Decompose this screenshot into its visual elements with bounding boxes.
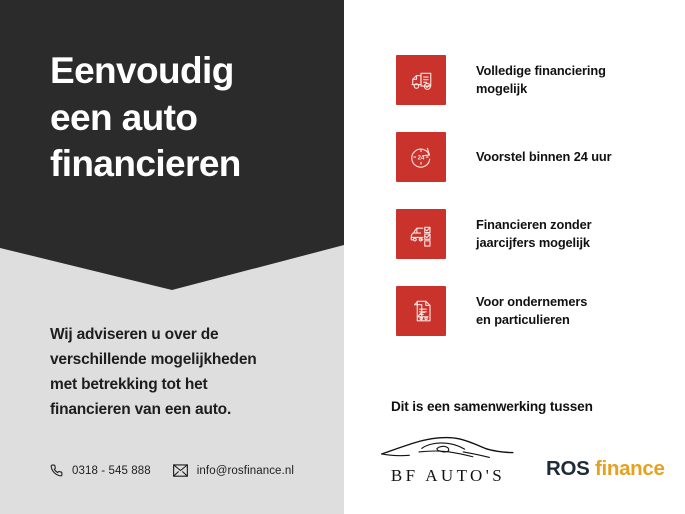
body-copy: Wij adviseren u over de verschillende mo… bbox=[50, 322, 320, 422]
feature-1-line-2: mogelijk bbox=[476, 80, 666, 98]
svg-text:24: 24 bbox=[418, 155, 425, 162]
promo-poster: Eenvoudig een auto financieren Wij advis… bbox=[0, 0, 685, 514]
feature-label-2: Voorstel binnen 24 uur bbox=[476, 148, 666, 166]
contact-email[interactable]: info@rosfinance.nl bbox=[173, 464, 294, 477]
headline-line-2: een auto bbox=[50, 95, 330, 142]
finance-wordmark: finance bbox=[595, 457, 665, 480]
delivery-truck-document-icon bbox=[396, 55, 446, 105]
body-copy-line-1: Wij adviseren u over de bbox=[50, 322, 320, 347]
contact-row: 0318 - 545 888 info@rosfinance.nl bbox=[50, 464, 294, 477]
feature-3-line-2: jaarcijfers mogelijk bbox=[476, 234, 666, 252]
envelope-icon bbox=[173, 464, 188, 477]
car-silhouette-icon bbox=[379, 447, 517, 464]
body-copy-line-3: met betrekking tot het bbox=[50, 372, 320, 397]
feature-4-line-1: Voor ondernemers bbox=[476, 293, 666, 311]
contact-phone[interactable]: 0318 - 545 888 bbox=[50, 464, 151, 477]
email-address: info@rosfinance.nl bbox=[197, 465, 294, 477]
page-title: Eenvoudig een auto financieren bbox=[50, 48, 330, 188]
car-checklist-icon bbox=[396, 209, 446, 259]
partners-title: Dit is een samenwerking tussen bbox=[391, 399, 593, 414]
feature-item-4: Voor ondernemers en particulieren bbox=[396, 286, 666, 336]
feature-label-3: Financieren zonder jaarcijfers mogelijk bbox=[476, 216, 666, 253]
bf-autos-wordmark: BF AUTO'S bbox=[374, 466, 522, 486]
body-copy-line-2: verschillende mogelijkheden bbox=[50, 347, 320, 372]
left-panel: Eenvoudig een auto financieren Wij advis… bbox=[0, 0, 344, 514]
headline-line-3: financieren bbox=[50, 141, 330, 188]
partner-logos: BF AUTO'S ROS finance bbox=[374, 430, 674, 490]
logo-ros-finance[interactable]: ROS finance bbox=[546, 457, 665, 481]
feature-item-3: Financieren zonder jaarcijfers mogelijk bbox=[396, 209, 666, 259]
phone-number: 0318 - 545 888 bbox=[72, 465, 151, 477]
logo-bf-autos[interactable]: BF AUTO'S bbox=[374, 430, 522, 486]
body-copy-line-4: financieren van een auto. bbox=[50, 397, 320, 422]
feature-1-line-1: Volledige financiering bbox=[476, 62, 666, 80]
ros-wordmark: ROS bbox=[546, 457, 590, 480]
phone-icon bbox=[50, 464, 63, 477]
feature-4-line-2: en particulieren bbox=[476, 311, 666, 329]
clock-24-hour-icon: 24 bbox=[396, 132, 446, 182]
feature-label-4: Voor ondernemers en particulieren bbox=[476, 293, 666, 330]
feature-2-line-1: Voorstel binnen 24 uur bbox=[476, 148, 666, 166]
feature-3-line-1: Financieren zonder bbox=[476, 216, 666, 234]
headline-line-1: Eenvoudig bbox=[50, 48, 330, 95]
feature-item-2: 24 Voorstel binnen 24 uur bbox=[396, 132, 666, 182]
feature-label-1: Volledige financiering mogelijk bbox=[476, 62, 666, 99]
document-car-icon bbox=[396, 286, 446, 336]
feature-item-1: Volledige financiering mogelijk bbox=[396, 55, 666, 105]
right-panel: Volledige financiering mogelijk 24 Voors… bbox=[344, 0, 685, 514]
